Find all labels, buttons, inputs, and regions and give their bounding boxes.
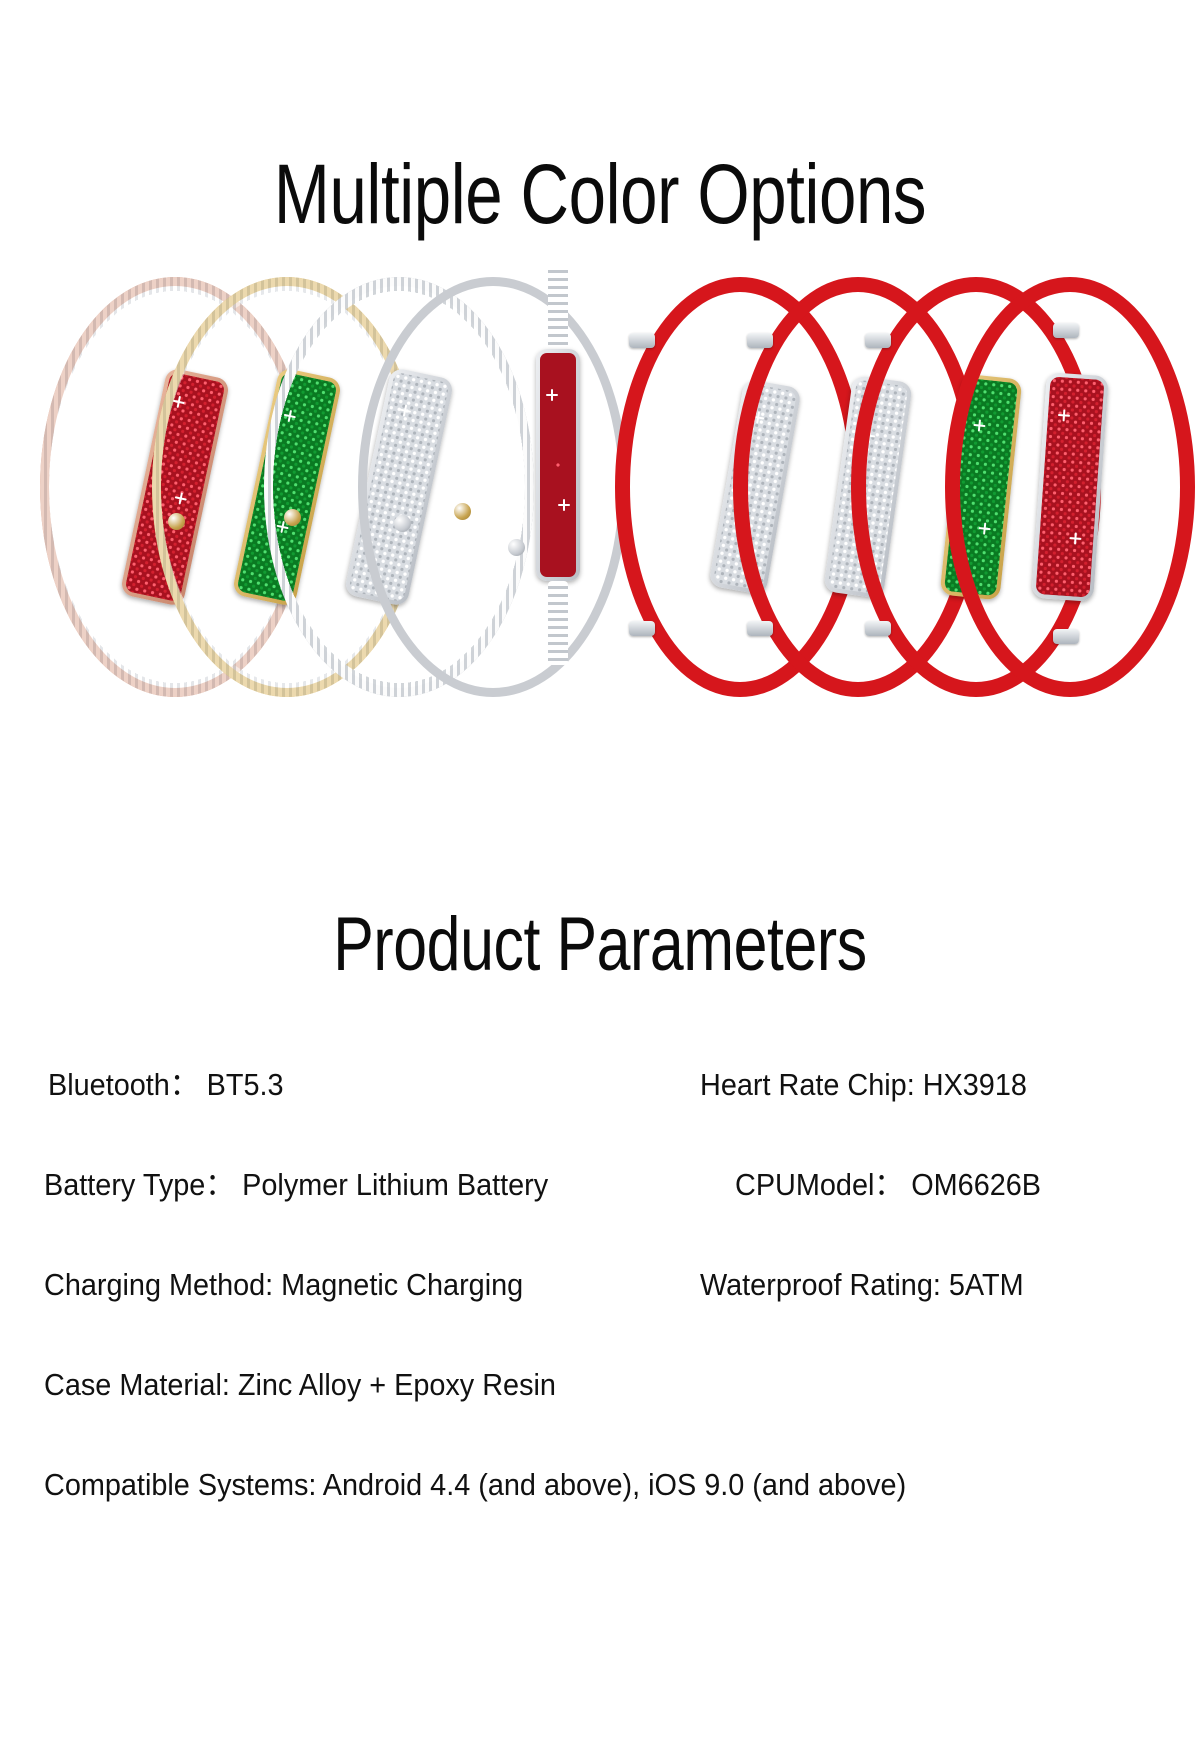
metal-cap xyxy=(747,333,773,348)
bracelet-cluster-left xyxy=(40,255,640,725)
slider-bead-gold xyxy=(454,503,471,520)
bracelet-silver-plain[interactable] xyxy=(358,277,628,697)
parameter-row: Charging Method: Magnetic Charging Water… xyxy=(0,1235,1200,1335)
metal-cap xyxy=(1053,323,1079,338)
parameter-case-material: Case Material: Zinc Alloy + Epoxy Resin xyxy=(44,1335,556,1435)
bracelet-red-cord-red[interactable] xyxy=(945,277,1195,697)
parameter-battery-type: Battery Type： Polymer Lithium Battery xyxy=(44,1135,548,1235)
product-gallery xyxy=(0,255,1200,725)
parameter-bluetooth: Bluetooth： BT5.3 xyxy=(48,1035,284,1135)
metal-cap xyxy=(865,621,891,636)
slider-bead-silver xyxy=(508,539,525,556)
parameter-compatible-systems: Compatible Systems: Android 4.4 (and abo… xyxy=(44,1435,906,1535)
page-title-color-options: Multiple Color Options xyxy=(120,148,1080,240)
crystal-chain-top xyxy=(548,265,568,351)
parameter-row: Compatible Systems: Android 4.4 (and abo… xyxy=(0,1435,1200,1535)
parameter-row: Battery Type： Polymer Lithium Battery CP… xyxy=(0,1135,1200,1235)
crystal-chain-bottom xyxy=(548,581,568,665)
band-silver-snake-chain xyxy=(358,277,628,697)
bracelet-crystal-strand-red[interactable] xyxy=(532,265,584,665)
section-title-product-parameters: Product Parameters xyxy=(120,903,1080,987)
metal-cap xyxy=(747,621,773,636)
crystal-bar-red-upright xyxy=(536,349,580,581)
parameter-row: Case Material: Zinc Alloy + Epoxy Resin xyxy=(0,1335,1200,1435)
parameter-cpu-model: CPUModel： OM6626B xyxy=(735,1135,1041,1235)
parameter-waterproof-rating: Waterproof Rating: 5ATM xyxy=(700,1235,1024,1335)
metal-cap xyxy=(629,621,655,636)
product-detail-page: Multiple Color Options xyxy=(0,0,1200,1740)
product-parameters-list: Bluetooth： BT5.3 Heart Rate Chip: HX3918… xyxy=(0,1035,1200,1535)
parameter-row: Bluetooth： BT5.3 Heart Rate Chip: HX3918 xyxy=(0,1035,1200,1135)
bracelet-cluster-right xyxy=(615,255,1175,725)
parameter-heart-rate-chip: Heart Rate Chip: HX3918 xyxy=(700,1035,1027,1135)
parameter-charging-method: Charging Method: Magnetic Charging xyxy=(44,1235,523,1335)
metal-cap xyxy=(1053,629,1079,644)
metal-cap xyxy=(865,333,891,348)
metal-cap xyxy=(629,333,655,348)
